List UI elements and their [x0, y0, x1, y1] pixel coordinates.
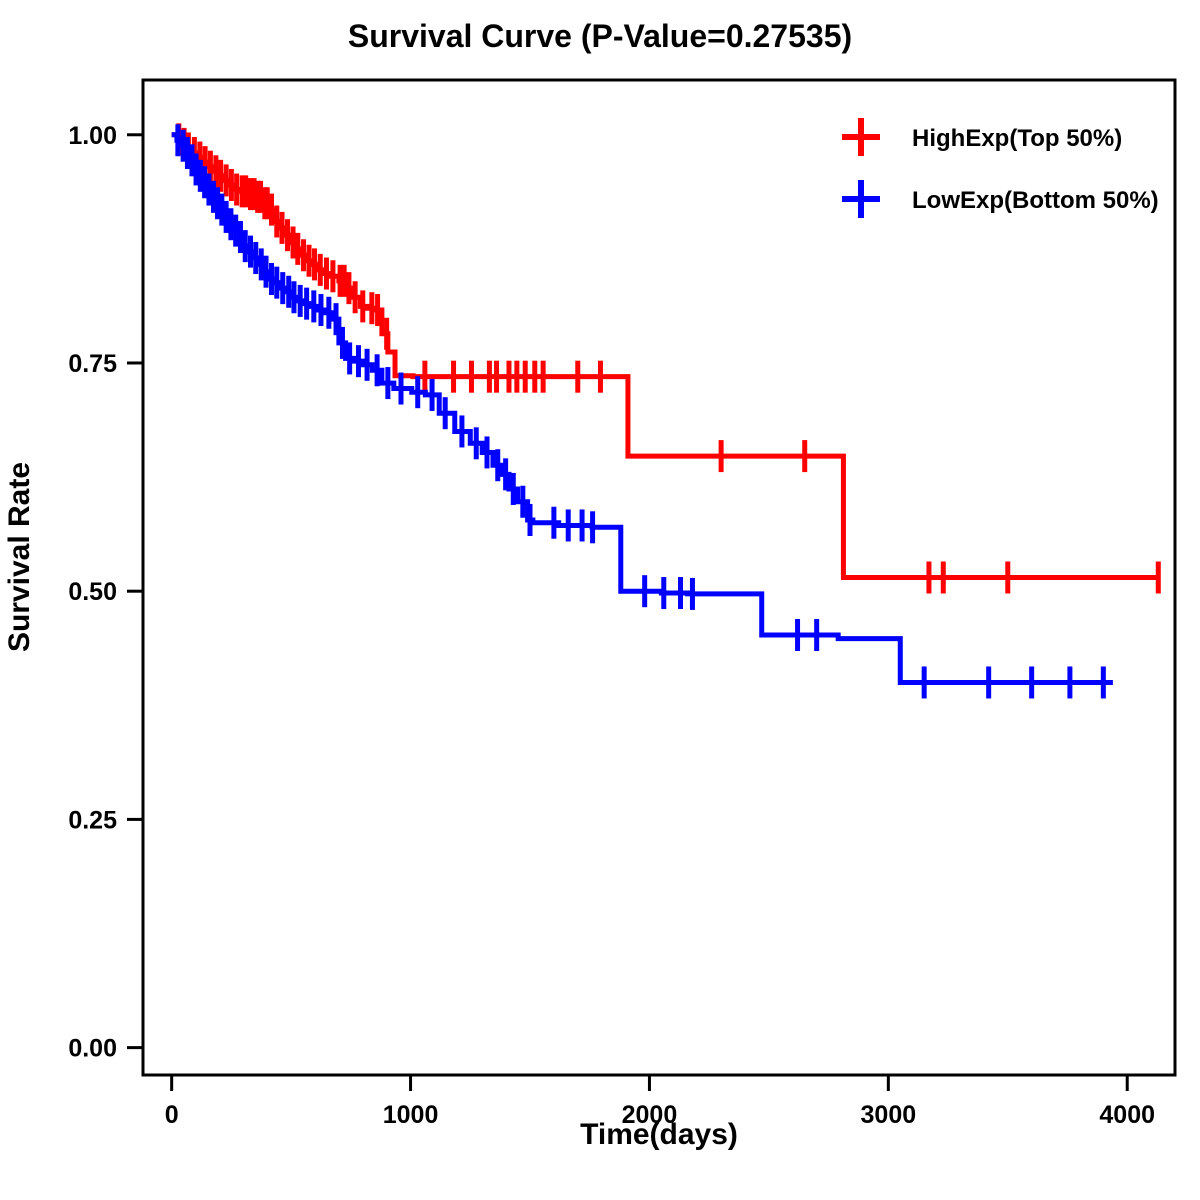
x-tick-label: 3000	[861, 1101, 917, 1129]
x-tick-label: 4000	[1099, 1101, 1155, 1129]
survival-curve-figure: Survival Curve (P-Value=0.27535) Surviva…	[0, 0, 1200, 1200]
y-tick-label: 0.50	[68, 578, 117, 606]
legend-label: LowExp(Bottom 50%)	[912, 187, 1159, 214]
legend-label: HighExp(Top 50%)	[912, 125, 1122, 152]
chart-legend: HighExp(Top 50%)LowExp(Bottom 50%)	[842, 118, 1159, 218]
x-tick-label: 1000	[383, 1101, 439, 1129]
y-axis-ticks: 0.000.250.500.751.00	[68, 122, 143, 1063]
x-axis-ticks: 01000200030004000	[165, 1075, 1155, 1129]
legend-item[interactable]: HighExp(Top 50%)	[842, 118, 1122, 156]
y-tick-label: 0.75	[68, 350, 117, 378]
x-tick-label: 0	[165, 1101, 179, 1129]
plot-area: 01000200030004000 0.000.250.500.751.00 H…	[0, 0, 1200, 1200]
legend-item[interactable]: LowExp(Bottom 50%)	[842, 180, 1159, 218]
y-tick-label: 1.00	[68, 122, 117, 150]
y-tick-label: 0.25	[68, 806, 117, 834]
x-tick-label: 2000	[622, 1101, 678, 1129]
y-tick-label: 0.00	[68, 1035, 117, 1063]
